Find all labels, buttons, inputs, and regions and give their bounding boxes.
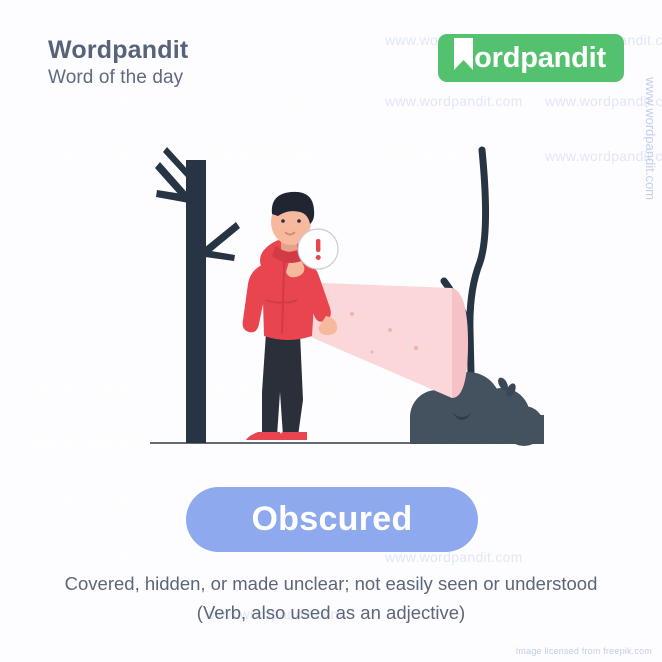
definition-line-2: (Verb, also used as an adjective)	[0, 599, 662, 628]
definition-line-1: Covered, hidden, or made unclear; not ea…	[65, 573, 598, 594]
word-badge: Obscured	[186, 487, 478, 552]
page-subtitle: Word of the day	[48, 67, 188, 89]
word-of-the-day-card: www.wordpandit.com www.wordpandit.com ww…	[0, 0, 662, 662]
left-tree-icon	[155, 147, 240, 443]
definition-block: Covered, hidden, or made unclear; not ea…	[0, 570, 662, 627]
wordpandit-logo[interactable]: ordpandit	[438, 34, 624, 82]
bookmark-w-icon	[452, 36, 475, 76]
character-legs	[262, 333, 303, 436]
logo-text: ordpandit	[474, 44, 606, 73]
word-term: Obscured	[251, 500, 412, 539]
character-shoes	[246, 432, 307, 440]
header: Wordpandit Word of the day	[48, 36, 188, 89]
speech-bubble	[298, 229, 338, 269]
image-credit: Image licensed from freepik.com	[516, 646, 652, 656]
illustration-scene	[0, 0, 662, 662]
brand-title: Wordpandit	[48, 36, 188, 65]
